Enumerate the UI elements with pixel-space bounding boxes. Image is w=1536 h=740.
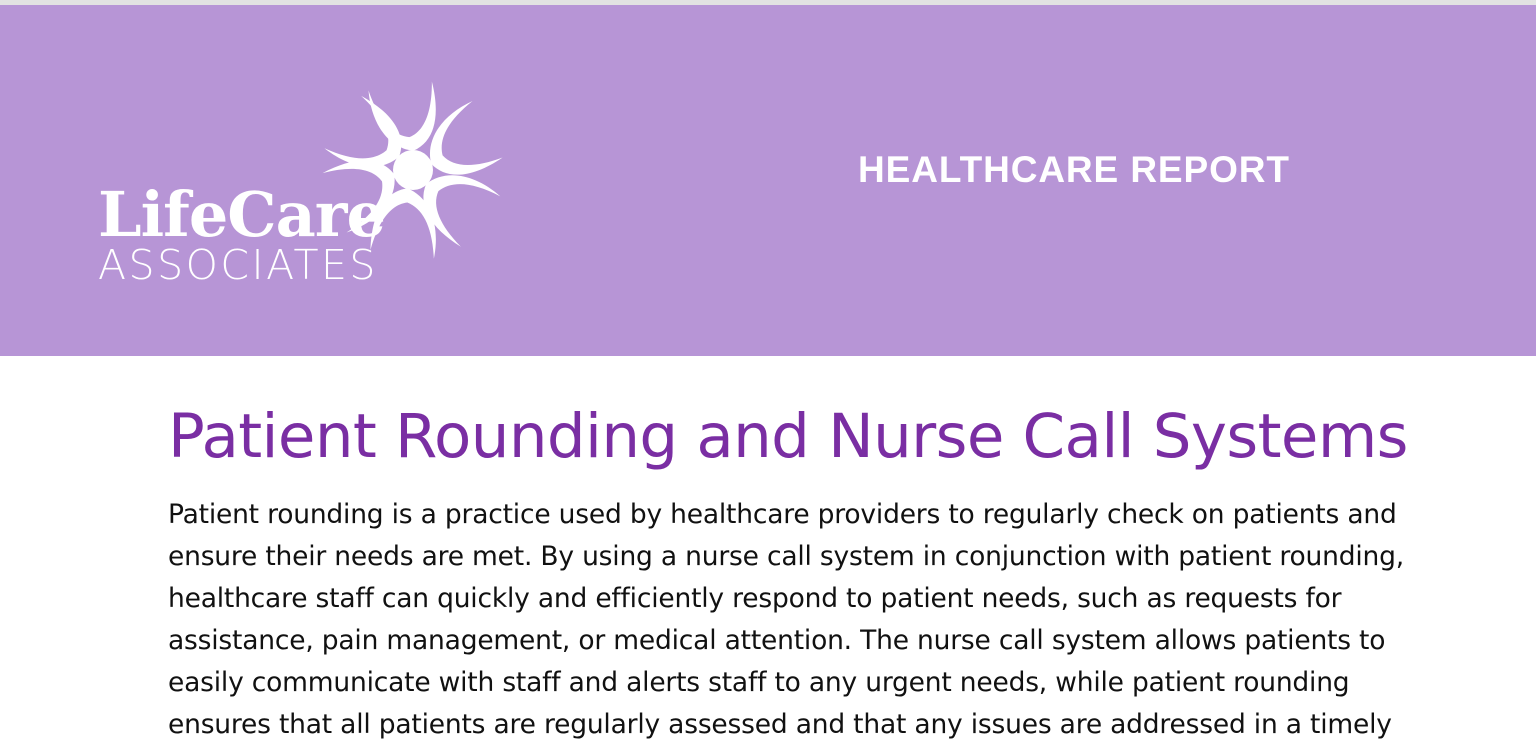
report-type-label: HEALTHCARE REPORT <box>858 149 1290 191</box>
brand-name: LifeCare <box>98 183 428 247</box>
page-title: Patient Rounding and Nurse Call Systems <box>168 400 1423 474</box>
report-page: LifeCare ASSOCIATES HEALTHCARE REPORT Pa… <box>0 0 1536 740</box>
article-paragraph: Patient rounding is a practice used by h… <box>168 494 1423 740</box>
article-content: Patient Rounding and Nurse Call Systems … <box>168 400 1423 740</box>
brand-wordmark: LifeCare ASSOCIATES <box>98 183 428 287</box>
brand-logo[interactable]: LifeCare ASSOCIATES <box>88 45 558 305</box>
page-header-band: LifeCare ASSOCIATES HEALTHCARE REPORT <box>0 5 1536 356</box>
